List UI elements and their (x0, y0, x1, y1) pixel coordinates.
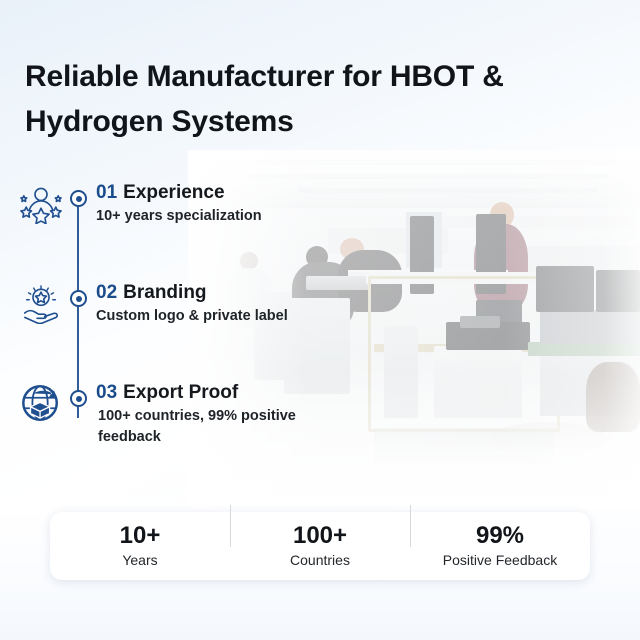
timeline-item-title-text: Export Proof (123, 382, 238, 403)
hand-star-badge-icon (18, 282, 64, 324)
stat-countries: 100+ Countries (230, 522, 410, 570)
globe-shipping-icon (18, 382, 64, 424)
stat-positive-feedback: 99% Positive Feedback (410, 522, 590, 570)
timeline-item-subtitle: Custom logo & private label (96, 306, 346, 327)
feature-timeline: 01Experience 10+ years specialization (0, 180, 400, 440)
timeline-dot-1 (70, 190, 87, 207)
page-title: Reliable Manufacturer for HBOT & Hydroge… (25, 54, 565, 144)
timeline-item-number: 01 (96, 182, 117, 203)
stat-value: 10+ (50, 522, 230, 550)
timeline-dot-2 (70, 290, 87, 307)
stat-value: 100+ (230, 522, 410, 550)
timeline-item-number: 02 (96, 282, 117, 303)
stat-years: 10+ Years (50, 522, 230, 570)
timeline-item-title-text: Branding (123, 282, 206, 303)
timeline-item-number: 03 (96, 382, 117, 403)
timeline-item-title: 02Branding (96, 282, 207, 304)
timeline-dot-3 (70, 390, 87, 407)
stats-card: 10+ Years 100+ Countries 99% Positive Fe… (50, 512, 590, 580)
timeline-item-title-text: Experience (123, 182, 224, 203)
stat-label: Countries (230, 551, 410, 570)
timeline-item-title: 01Experience (96, 182, 225, 204)
people-stars-icon (18, 182, 64, 224)
stat-label: Positive Feedback (410, 551, 590, 570)
timeline-item-title: 03Export Proof (96, 382, 238, 404)
timeline-item-subtitle: 100+ countries, 99% positive feedback (98, 406, 348, 448)
stat-label: Years (50, 551, 230, 570)
timeline-item-subtitle: 10+ years specialization (96, 206, 346, 227)
stat-value: 99% (410, 522, 590, 550)
timeline-connector-line (77, 196, 79, 418)
slide-root: Reliable Manufacturer for HBOT & Hydroge… (0, 0, 640, 640)
